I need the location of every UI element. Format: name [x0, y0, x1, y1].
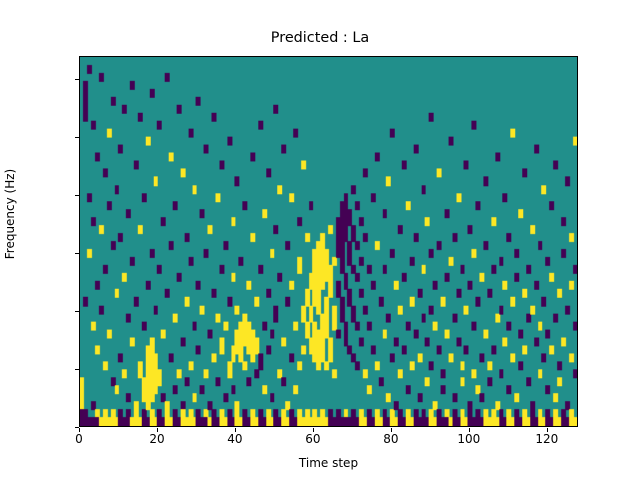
x-tick-label: 0	[49, 433, 109, 445]
y-tick-mark	[75, 253, 79, 254]
heatmap-axes	[79, 56, 578, 427]
y-tick-mark	[75, 79, 79, 80]
x-tick-mark	[391, 428, 392, 432]
y-tick-mark	[75, 137, 79, 138]
x-tick-mark	[157, 428, 158, 432]
x-tick-label: 120	[517, 433, 577, 445]
x-tick-label: 20	[127, 433, 187, 445]
x-tick-mark	[547, 428, 548, 432]
x-axis-label: Time step	[79, 456, 578, 470]
y-tick-mark	[75, 369, 79, 370]
x-tick-label: 100	[439, 433, 499, 445]
x-tick-label: 40	[205, 433, 265, 445]
y-tick-mark	[75, 311, 79, 312]
x-tick-mark	[469, 428, 470, 432]
x-tick-mark	[79, 428, 80, 432]
x-tick-label: 60	[283, 433, 343, 445]
y-tick-mark	[75, 195, 79, 196]
x-tick-mark	[235, 428, 236, 432]
x-tick-mark	[313, 428, 314, 432]
heatmap-canvas	[80, 57, 577, 426]
x-tick-label: 80	[361, 433, 421, 445]
chart-title: Predicted : La	[0, 30, 640, 46]
y-axis-label: Frequency (Hz)	[3, 28, 17, 400]
matplotlib-figure: Predicted : La Frequency (Hz) Time step …	[0, 0, 640, 480]
